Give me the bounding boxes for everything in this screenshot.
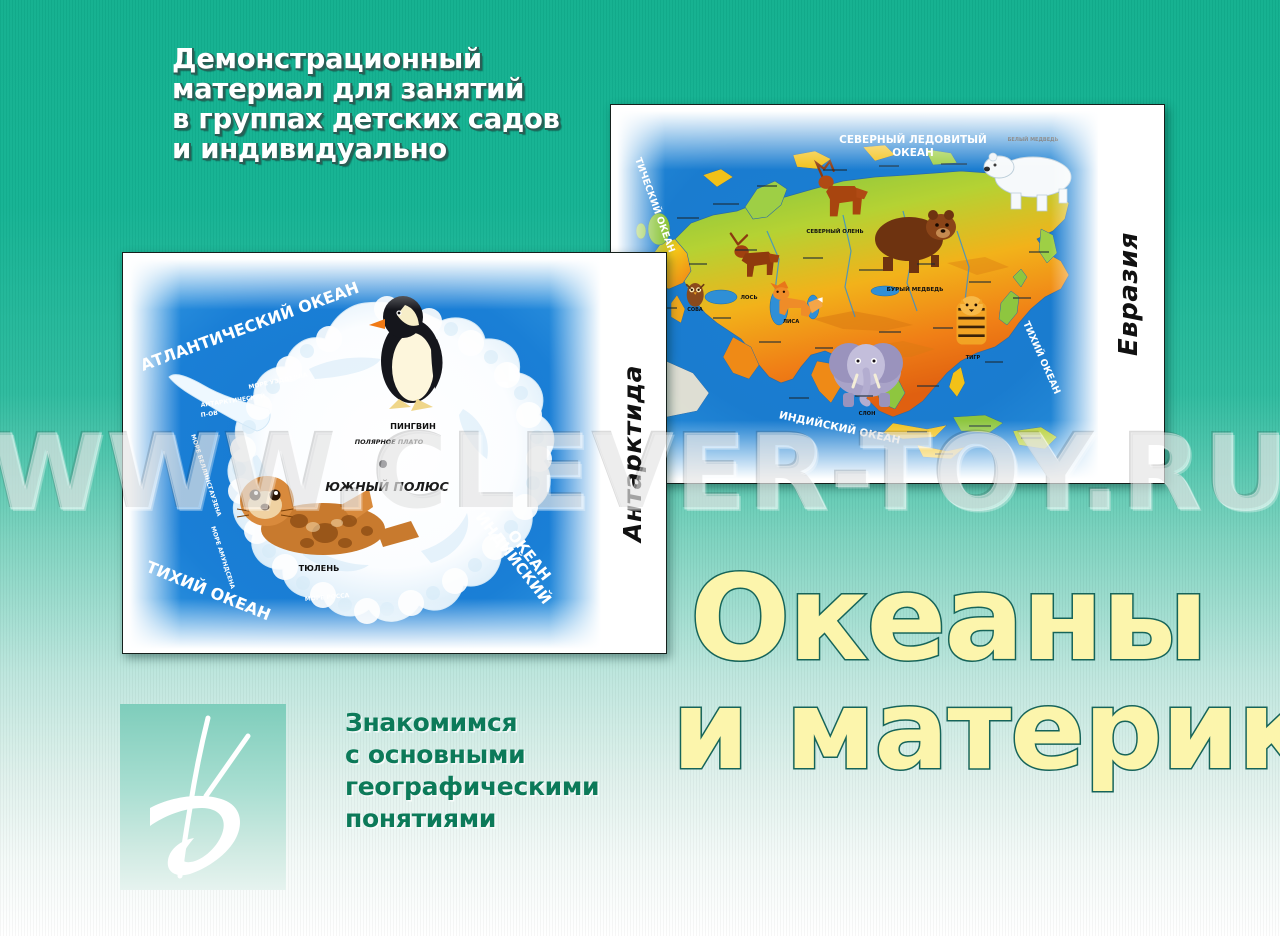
antarctica-side-label: Антарктида	[618, 365, 647, 542]
subtext-line-1: Знакомимся	[345, 707, 645, 739]
eurasia-side-label: Евразия	[1114, 232, 1144, 356]
subtext-block: Знакомимся с основными географическими п…	[345, 707, 645, 835]
subtext-line-4: понятиями	[345, 803, 645, 835]
main-title-line-2: и материки	[672, 674, 1280, 786]
publisher-logo-mark	[120, 704, 286, 890]
subtext-line-3: географическими	[345, 771, 645, 803]
poster-root: Демонстрационный материал для занятий в …	[0, 0, 1280, 936]
antarctica-side-label-area: Антарктида	[602, 253, 662, 653]
headline-line-1: Демонстрационный	[172, 44, 602, 74]
eurasia-side-label-area: Евразия	[1098, 105, 1160, 483]
headline-line-4: и индивидуально	[172, 134, 602, 164]
headline-line-2: материал для занятий	[172, 74, 602, 104]
publisher-logo[interactable]	[120, 704, 286, 890]
headline-block: Демонстрационный материал для занятий в …	[172, 44, 602, 164]
eurasia-map: ЛОСЬ СОВА	[617, 111, 1099, 479]
antarctica-map-svg: ПИНГВИН	[129, 259, 601, 649]
card-antarctica[interactable]: ПИНГВИН	[122, 252, 667, 654]
main-title-line-1: Океаны	[690, 562, 1280, 674]
subtext-line-2: с основными	[345, 739, 645, 771]
card-eurasia[interactable]: ЛОСЬ СОВА	[610, 104, 1165, 484]
antarctica-map: ПИНГВИН	[129, 259, 601, 649]
eurasia-map-svg: ЛОСЬ СОВА	[617, 111, 1099, 479]
main-title: Океаны и материки	[690, 562, 1280, 786]
headline-line-3: в группах детских садов	[172, 104, 602, 134]
